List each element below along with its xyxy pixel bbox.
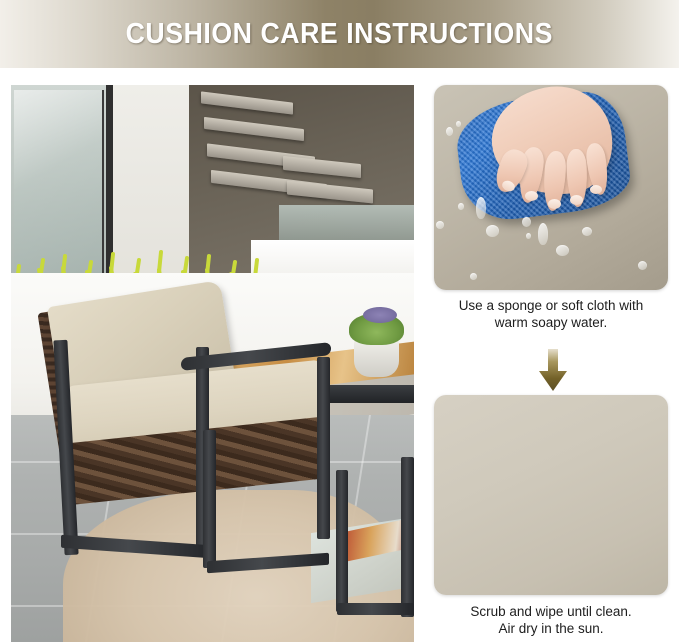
fingernail [570,195,583,205]
water-droplet [470,273,477,280]
hero-product-photo: EASY TO CLEAN [11,85,414,642]
water-droplet [556,245,569,256]
water-droplet [458,203,464,210]
water-droplet [446,127,453,136]
potted-plant-flowers [363,307,397,323]
step-clean-caption-line1: Scrub and wipe until clean. [434,603,668,620]
table-leg-far-right [401,457,414,617]
step-clean-caption-line2: Air dry in the sun. [434,620,668,637]
water-droplet [538,223,548,245]
step-clean-image [434,395,668,595]
page-title: CUSHION CARE INSTRUCTIONS [126,18,553,51]
fingernail [525,191,538,201]
header-banner: CUSHION CARE INSTRUCTIONS [0,0,679,68]
fingernail [590,185,602,194]
water-droplet [476,197,486,219]
table-leg-right [336,470,348,612]
down-arrow-icon [538,349,568,391]
side-table-top [326,385,414,403]
water-droplet [638,261,647,270]
water-droplet [456,121,461,127]
water-droplet [522,217,531,227]
chair-frame-front-left [203,430,216,568]
table-bottom-rail [337,603,414,615]
water-droplet [582,227,592,236]
water-droplet [436,221,444,229]
fingernail [548,199,561,209]
water-droplet [486,225,499,237]
chair-frame-front-right [317,357,330,539]
step-wipe-caption: Use a sponge or soft cloth with warm soa… [434,297,668,332]
step-wipe-caption-line2: warm soapy water. [434,314,668,331]
step-wipe-caption-line1: Use a sponge or soft cloth with [434,297,668,314]
step-clean-caption: Scrub and wipe until clean. Air dry in t… [434,603,668,638]
step-wipe-image [434,85,668,290]
water-droplet [526,233,531,239]
